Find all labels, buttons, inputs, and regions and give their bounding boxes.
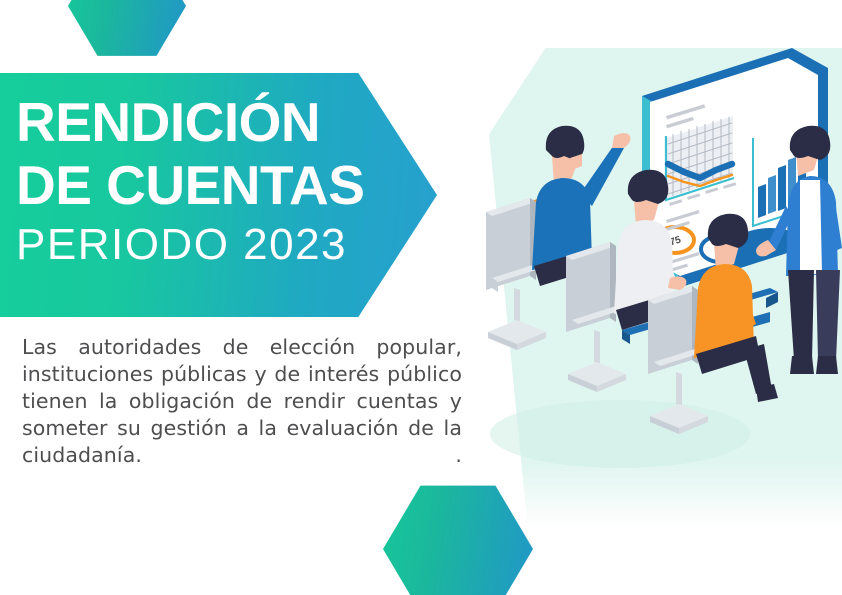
poster-canvas: 75 50 [0, 0, 842, 595]
title-banner: RENDICIÓN DE CUENTAS PERIODO 2023 [0, 73, 437, 317]
poster-title-line-2: DE CUENTAS [16, 158, 437, 213]
intro-paragraph: Las autoridades de elección popular, ins… [22, 334, 462, 469]
presentation-illustration: 75 50 [470, 30, 842, 500]
poster-title-line-1: RENDICIÓN [16, 95, 437, 150]
hexagon-decoration-top [68, 0, 186, 58]
poster-subtitle-period: PERIODO 2023 [16, 223, 437, 267]
